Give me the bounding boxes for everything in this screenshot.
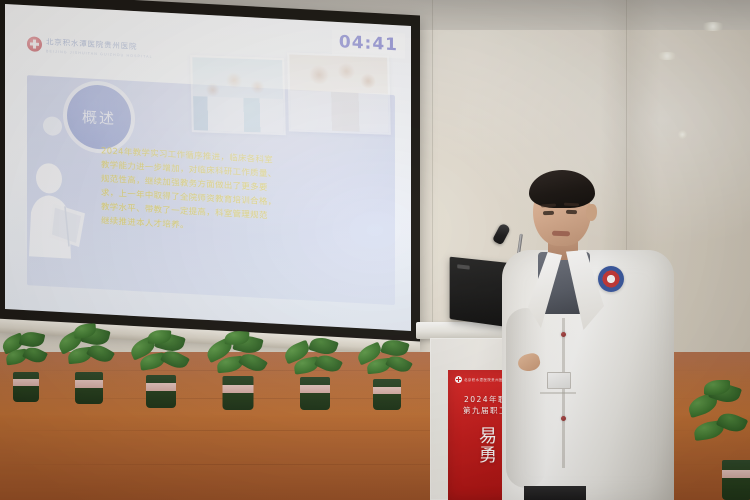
projection-screen-frame: 北京积水潭医院贵州医院 BEIJING JISHUITAN GUIZHOU HO… xyxy=(0,0,420,345)
mouth xyxy=(552,231,570,237)
plant-pot xyxy=(373,379,401,410)
potted-plant-4 xyxy=(204,330,272,410)
hair xyxy=(529,170,595,208)
slide-photo-clinical-work xyxy=(287,52,391,134)
coat-button xyxy=(561,416,566,421)
shoulder-badge-icon xyxy=(598,266,624,292)
staff-id-card xyxy=(547,372,571,389)
eye-left xyxy=(543,211,554,216)
slide-photo-medical-team xyxy=(190,55,286,135)
coat-button xyxy=(561,332,566,337)
plant-pot xyxy=(13,372,39,402)
hospital-cross-icon xyxy=(27,36,42,52)
potted-plant-2 xyxy=(58,324,120,404)
laptop-brand-logo xyxy=(457,264,469,269)
coat-shadow xyxy=(506,308,546,488)
plant-pot xyxy=(722,460,750,500)
trousers xyxy=(524,486,586,500)
slide-decor-dot xyxy=(43,116,62,136)
slide-hospital-logo: 北京积水潭医院贵州医院 BEIJING JISHUITAN GUIZHOU HO… xyxy=(27,35,153,59)
eye-right xyxy=(566,210,577,215)
wall-light-spot xyxy=(678,130,687,139)
potted-plant-3 xyxy=(128,328,194,408)
slide-body-text: 2024年教学实习工作循序推进，临床各科室 教学能力进一步增加，对临床科研工作质… xyxy=(101,145,333,239)
plant-pot xyxy=(75,372,103,404)
coat-pocket xyxy=(540,392,576,394)
slide-section-ring: 概述 xyxy=(63,79,135,155)
slide-section-label: 概述 xyxy=(67,83,131,150)
potted-plant-1 xyxy=(0,330,52,402)
conference-presentation-scene: 北京积水潭医院贵州医院 BEIJING JISHUITAN GUIZHOU HO… xyxy=(0,0,750,500)
ceiling-light xyxy=(656,52,678,60)
plant-pot xyxy=(146,375,176,408)
potted-plant-5 xyxy=(282,332,348,410)
slide-figure-illustration xyxy=(19,160,93,262)
plant-pot xyxy=(223,376,254,410)
potted-plant-6 xyxy=(356,334,418,410)
presentation-timer: 04:41 xyxy=(332,30,405,59)
potted-plant-7 xyxy=(688,380,750,500)
ear xyxy=(586,204,597,221)
sign-speaker-name: 易勇 xyxy=(474,426,499,464)
plant-pot xyxy=(300,377,330,410)
ceiling-light xyxy=(700,22,726,31)
projection-screen-surface: 北京积水潭医院贵州医院 BEIJING JISHUITAN GUIZHOU HO… xyxy=(5,4,411,331)
speaker-person xyxy=(500,168,680,500)
hospital-cross-icon xyxy=(455,376,462,383)
